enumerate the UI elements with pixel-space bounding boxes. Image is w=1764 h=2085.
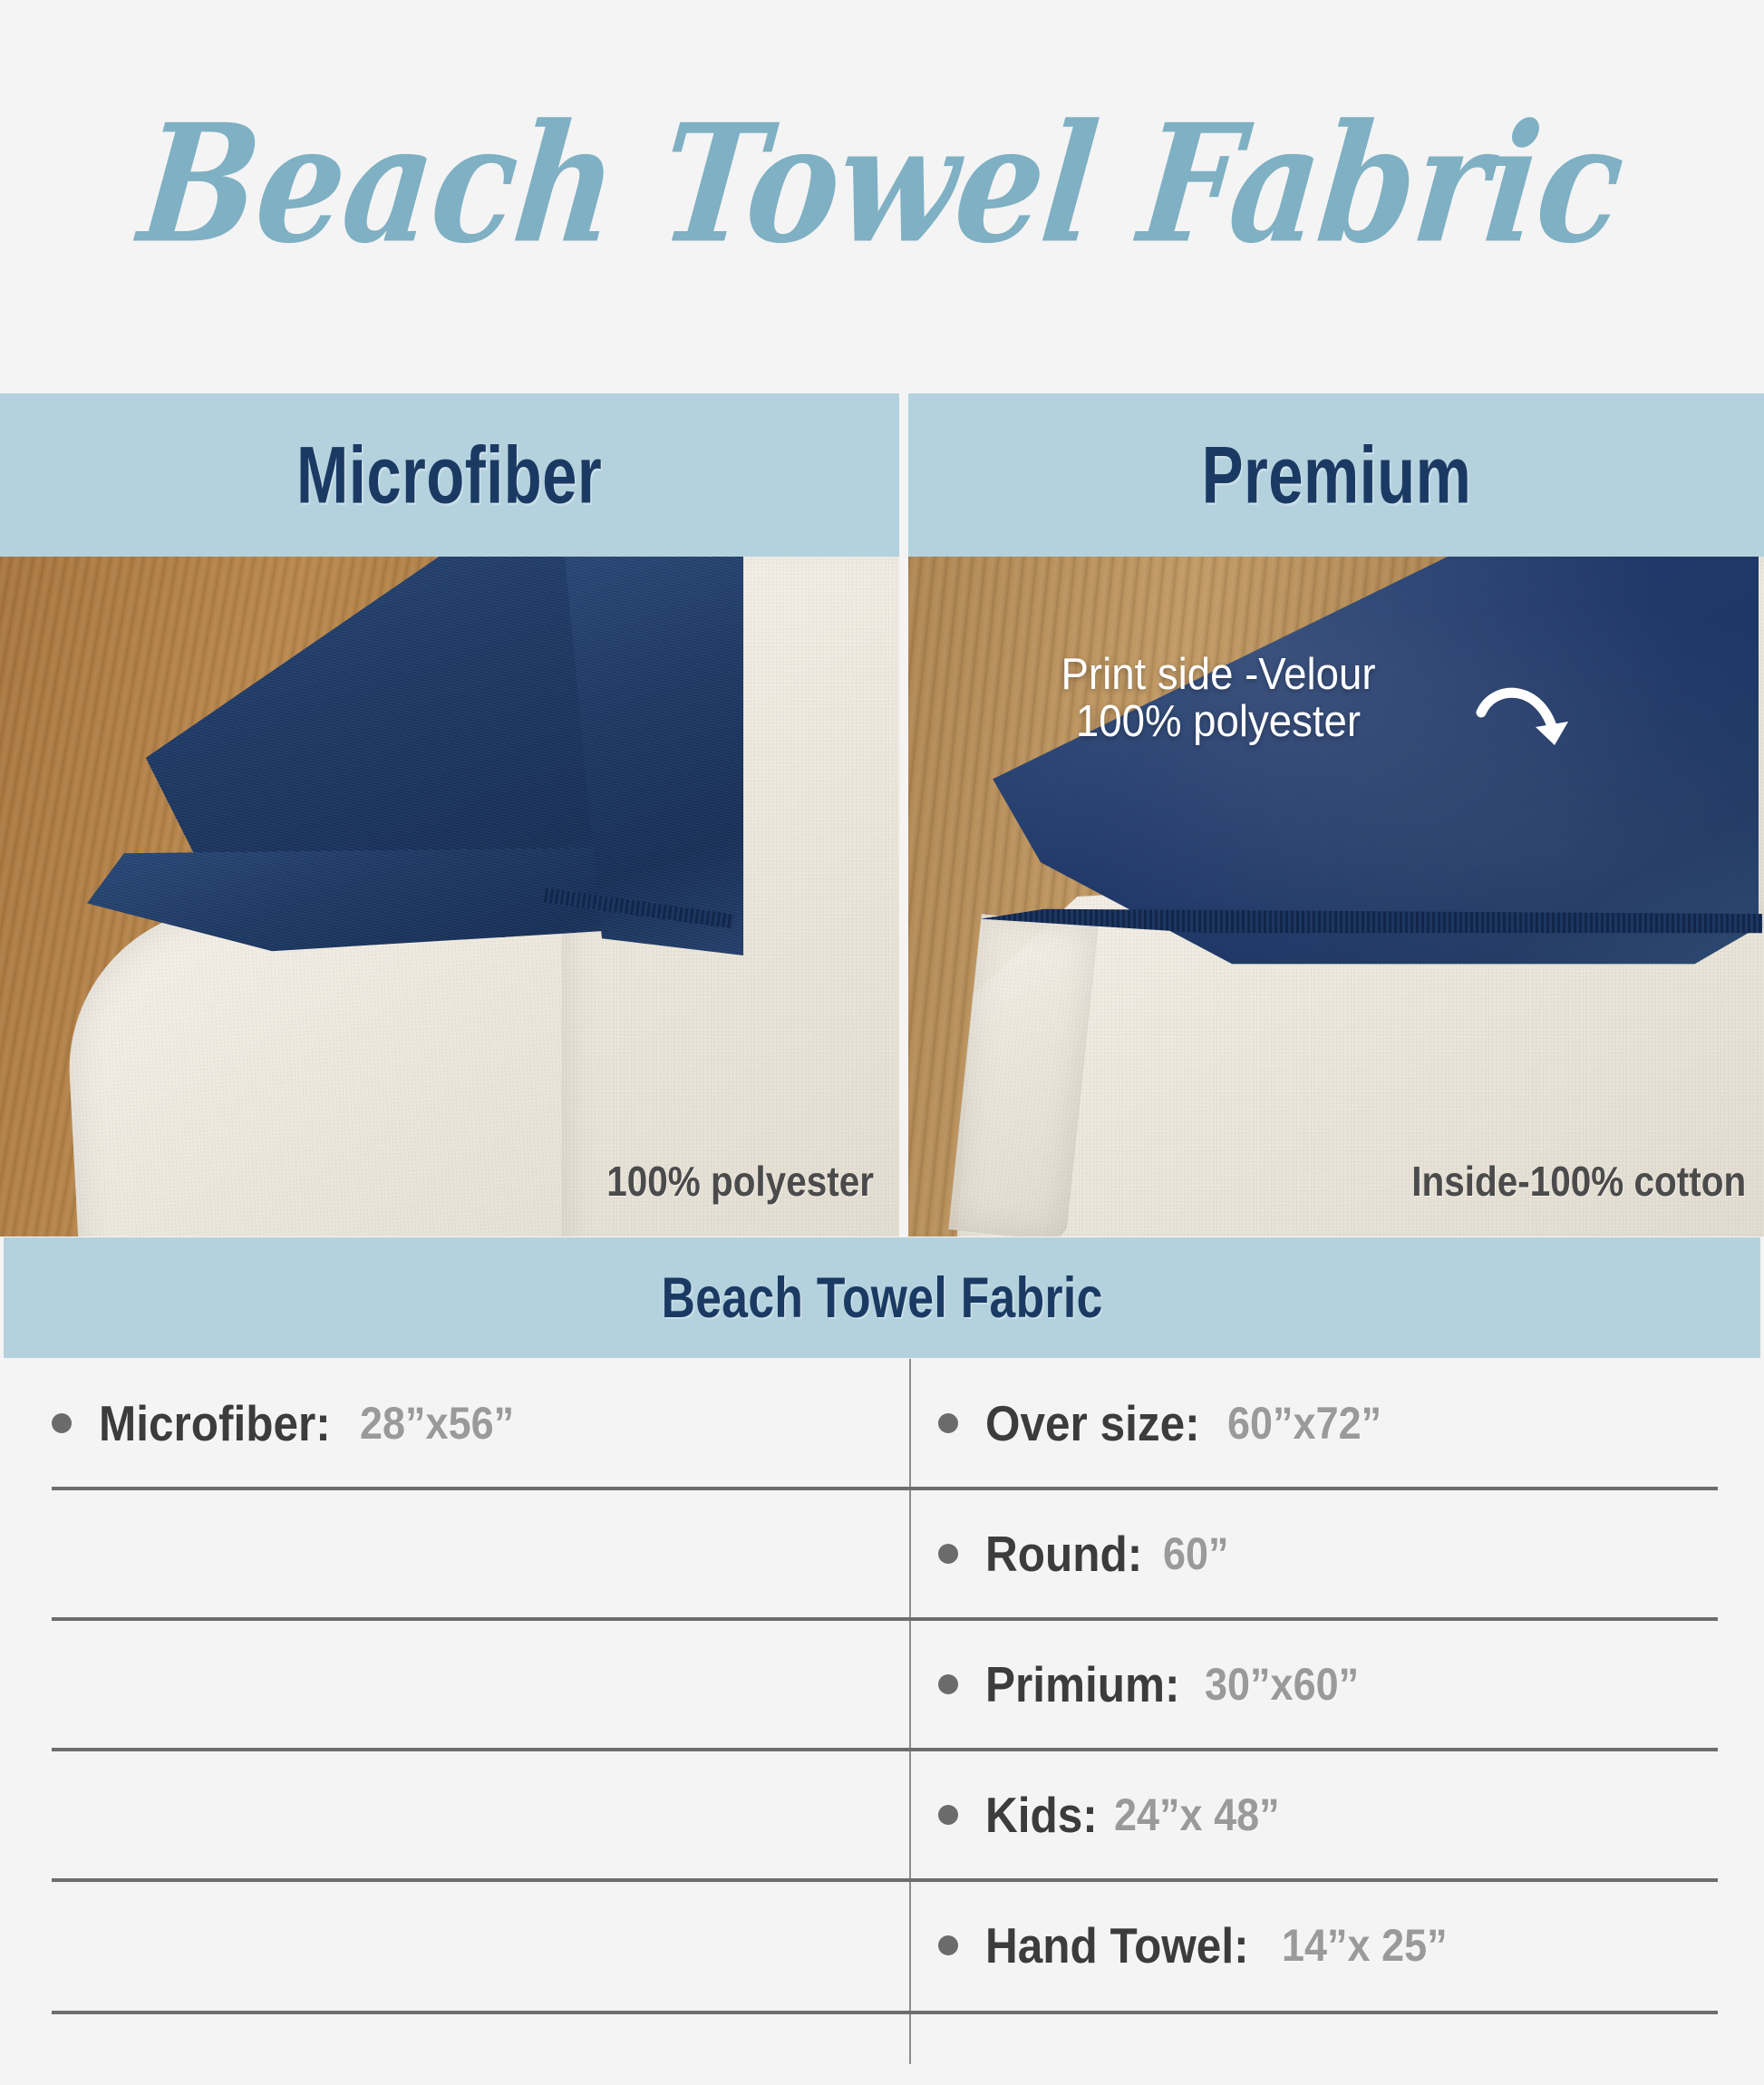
page-title-container: Beach Towel Fabric bbox=[0, 98, 1764, 270]
column-divider-gap bbox=[899, 393, 908, 557]
bullet-icon bbox=[938, 1935, 958, 1955]
photo-divider-gap bbox=[899, 557, 908, 1236]
size-spec-table: Microfiber: 28”x56” Over size: 60”x72” R… bbox=[0, 1358, 1764, 2083]
column-header-premium-label: Premium bbox=[1201, 429, 1471, 522]
column-header-premium: Premium bbox=[908, 393, 1764, 557]
spec-value: 24”x 48” bbox=[1114, 1789, 1280, 1841]
bullet-icon bbox=[938, 1674, 958, 1694]
photo-caption-microfiber: 100% polyester bbox=[606, 1157, 874, 1206]
photo-caption-premium: Inside-100% cotton bbox=[1411, 1157, 1746, 1206]
photo-premium-towel: Print side -Velour 100% polyester Inside… bbox=[908, 557, 1764, 1236]
overlay-line-1: Print side -Velour bbox=[983, 651, 1455, 698]
list-item: Round: 60” bbox=[938, 1489, 1718, 1619]
photo-microfiber-towel: 100% polyester bbox=[0, 557, 899, 1236]
spec-label: Microfiber: bbox=[99, 1394, 331, 1452]
infographic-page: Beach Towel Fabric Microfiber Premium 10… bbox=[0, 0, 1764, 2085]
spec-value: 30”x60” bbox=[1205, 1658, 1359, 1711]
spec-label: Round: bbox=[985, 1525, 1142, 1583]
bullet-icon bbox=[52, 1413, 72, 1433]
list-item: Hand Towel: 14”x 25” bbox=[938, 1880, 1718, 2011]
table-vertical-divider bbox=[909, 1359, 911, 2064]
column-header-microfiber: Microfiber bbox=[0, 393, 899, 557]
spec-label: Hand Towel: bbox=[985, 1916, 1249, 1974]
comparison-photo-row: 100% polyester Print side -Velour 100% p… bbox=[0, 557, 1764, 1236]
bullet-icon bbox=[938, 1544, 958, 1564]
page-title: Beach Towel Fabric bbox=[134, 102, 1631, 265]
list-item: Primium: 30”x60” bbox=[938, 1619, 1718, 1750]
section-header-title: Beach Towel Fabric bbox=[662, 1265, 1103, 1330]
bullet-icon bbox=[938, 1805, 958, 1825]
spec-value: 60” bbox=[1163, 1527, 1229, 1580]
photo-overlay-premium: Print side -Velour 100% polyester bbox=[983, 651, 1455, 746]
spec-label: Kids: bbox=[985, 1786, 1098, 1844]
comparison-header-row: Microfiber Premium bbox=[0, 393, 1764, 557]
spec-label: Primium: bbox=[985, 1655, 1180, 1713]
list-item: Kids: 24”x 48” bbox=[938, 1750, 1718, 1880]
spec-value: 28”x56” bbox=[360, 1397, 514, 1450]
overlay-line-2: 100% polyester bbox=[983, 698, 1455, 745]
section-header-bar: Beach Towel Fabric bbox=[4, 1237, 1760, 1358]
curved-arrow-down-right-icon bbox=[1474, 676, 1583, 776]
spec-label: Over size: bbox=[985, 1394, 1200, 1452]
bullet-icon bbox=[938, 1413, 958, 1433]
column-header-microfiber-label: Microfiber bbox=[296, 429, 602, 522]
table-row-divider bbox=[52, 2011, 1718, 2014]
list-item: Over size: 60”x72” bbox=[938, 1358, 1718, 1489]
list-item: Microfiber: 28”x56” bbox=[52, 1358, 895, 1489]
spec-value: 14”x 25” bbox=[1282, 1919, 1448, 1972]
spec-value: 60”x72” bbox=[1227, 1397, 1381, 1450]
